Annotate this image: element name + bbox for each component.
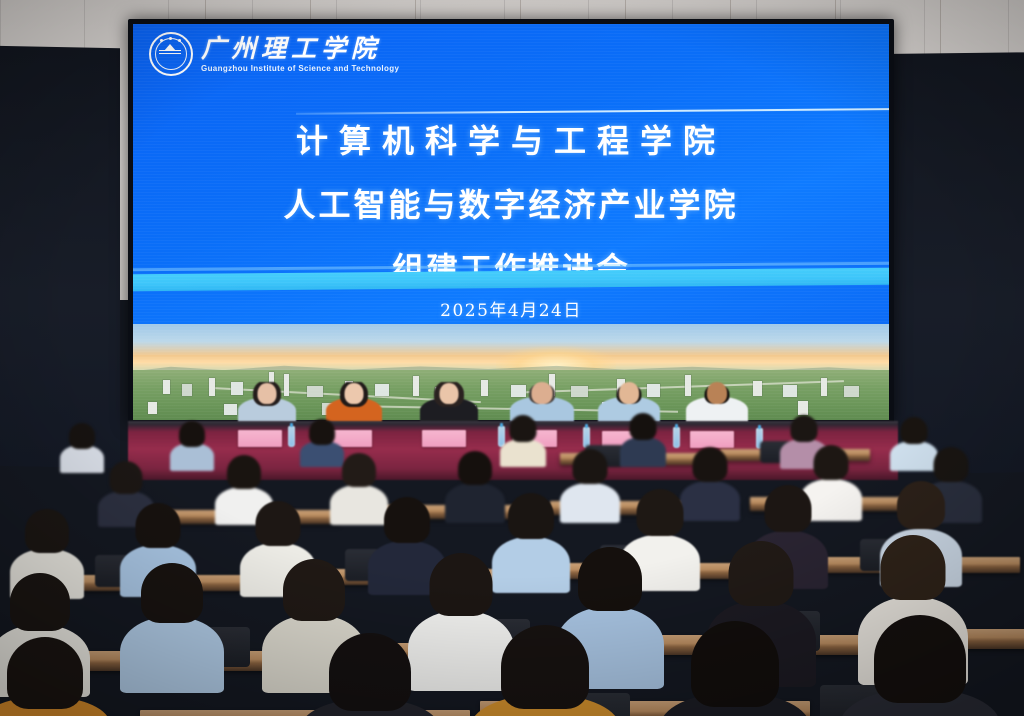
led-screen: 广州理工学院 Guangzhou Institute of Science an… [133,24,889,420]
university-crest-icon [149,32,193,76]
audience-area [0,405,1024,716]
title-line-2: 人工智能与数字经济产业学院 [133,180,889,226]
logo-name-en: Guangzhou Institute of Science and Techn… [201,65,399,73]
university-logo: 广州理工学院 Guangzhou Institute of Science an… [149,32,399,76]
conference-photo: 广州理工学院 Guangzhou Institute of Science an… [0,0,1024,716]
title-line-1: 计算机科学与工程学院 [133,116,889,162]
logo-name-cn: 广州理工学院 [201,36,399,61]
meeting-date: 2025年4月24日 [133,296,889,321]
title-divider-rule [296,107,889,114]
